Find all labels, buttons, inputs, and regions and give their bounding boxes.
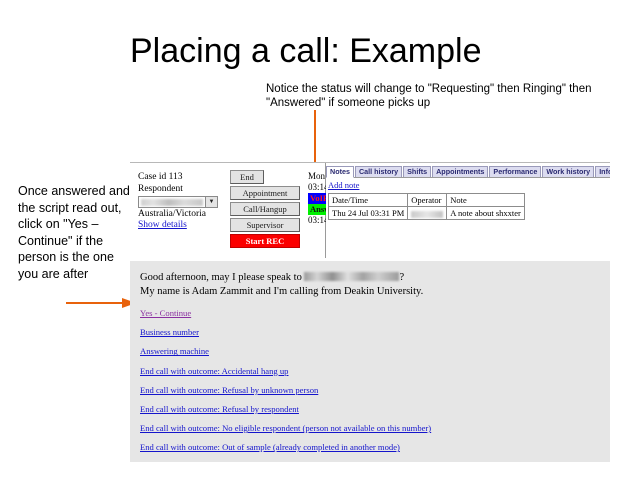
- redacted-operator: [411, 211, 443, 218]
- link-out-of-sample[interactable]: End call with outcome: Out of sample (al…: [140, 442, 400, 452]
- column-operator: Operator: [408, 194, 447, 207]
- link-refusal-unknown-person[interactable]: End call with outcome: Refusal by unknow…: [140, 385, 318, 395]
- script-panel: Good afternoon, may I please speak to ? …: [130, 260, 610, 462]
- script-line1-after: ?: [399, 272, 404, 283]
- link-yes-continue[interactable]: Yes - Continue: [140, 308, 191, 318]
- app-top-panel: Case id 113 Respondent ▼ Australia/Victo…: [130, 163, 610, 258]
- annotation-yes-continue: Once answered and the script read out, c…: [18, 183, 130, 282]
- notes-table: Date/Time Operator Note Thu 24 Jul 03:31…: [328, 193, 525, 220]
- slide-canvas: Placing a call: Example Notice the statu…: [0, 0, 640, 480]
- script-outcome-links: Yes - Continue Business number Answering…: [140, 308, 580, 462]
- notes-panel: Add note Date/Time Operator Note Thu 24 …: [328, 180, 608, 220]
- tab-call-history[interactable]: Call history: [355, 166, 402, 178]
- supervisor-button[interactable]: Supervisor: [230, 218, 300, 232]
- column-note: Note: [447, 194, 525, 207]
- redacted-respondent-name: [141, 199, 203, 206]
- embedded-app-screenshot: Case id 113 Respondent ▼ Australia/Victo…: [130, 162, 610, 462]
- respondent-select[interactable]: ▼: [138, 196, 218, 208]
- call-control-buttons: End Appointment Call/Hangup Supervisor S…: [230, 170, 300, 250]
- tab-work-history[interactable]: Work history: [542, 166, 594, 178]
- chevron-down-icon[interactable]: ▼: [205, 197, 217, 207]
- case-pane: Case id 113 Respondent ▼ Australia/Victo…: [130, 163, 326, 258]
- link-answering-machine[interactable]: Answering machine: [140, 346, 209, 356]
- link-no-eligible-respondent[interactable]: End call with outcome: No eligible respo…: [140, 423, 431, 433]
- tab-notes[interactable]: Notes: [326, 166, 354, 179]
- call-hangup-button[interactable]: Call/Hangup: [230, 202, 300, 216]
- appointment-button[interactable]: Appointment: [230, 186, 300, 200]
- tab-shifts[interactable]: Shifts: [403, 166, 431, 178]
- script-line1-before: Good afternoon, may I please speak to: [140, 272, 304, 283]
- arrow-right-icon: [66, 298, 138, 308]
- cell-operator: [408, 207, 447, 220]
- tab-pane: Notes Call history Shifts Appointments P…: [326, 163, 610, 258]
- tab-performance[interactable]: Performance: [489, 166, 541, 178]
- table-row[interactable]: Thu 24 Jul 03:31 PM A note about shxxter: [329, 207, 525, 220]
- link-business-number[interactable]: Business number: [140, 327, 199, 337]
- tabstrip: Notes Call history Shifts Appointments P…: [326, 165, 610, 178]
- annotation-status-change: Notice the status will change to "Reques…: [266, 82, 606, 110]
- add-note-link[interactable]: Add note: [328, 180, 359, 190]
- cell-note: A note about shxxter: [447, 207, 525, 220]
- tab-appointments[interactable]: Appointments: [432, 166, 488, 178]
- script-greeting: Good afternoon, may I please speak to ? …: [140, 271, 423, 298]
- link-accidental-hang-up[interactable]: End call with outcome: Accidental hang u…: [140, 366, 288, 376]
- link-refusal-respondent[interactable]: End call with outcome: Refusal by respon…: [140, 404, 299, 414]
- page-title: Placing a call: Example: [130, 32, 482, 71]
- column-datetime: Date/Time: [329, 194, 408, 207]
- tab-info[interactable]: Info: [595, 166, 610, 178]
- table-header-row: Date/Time Operator Note: [329, 194, 525, 207]
- start-recording-button[interactable]: Start REC: [230, 234, 300, 248]
- redacted-respondent-name-inline: [304, 272, 399, 281]
- end-button[interactable]: End: [230, 170, 264, 184]
- script-line2: My name is Adam Zammit and I'm calling f…: [140, 286, 423, 297]
- cell-datetime: Thu 24 Jul 03:31 PM: [329, 207, 408, 220]
